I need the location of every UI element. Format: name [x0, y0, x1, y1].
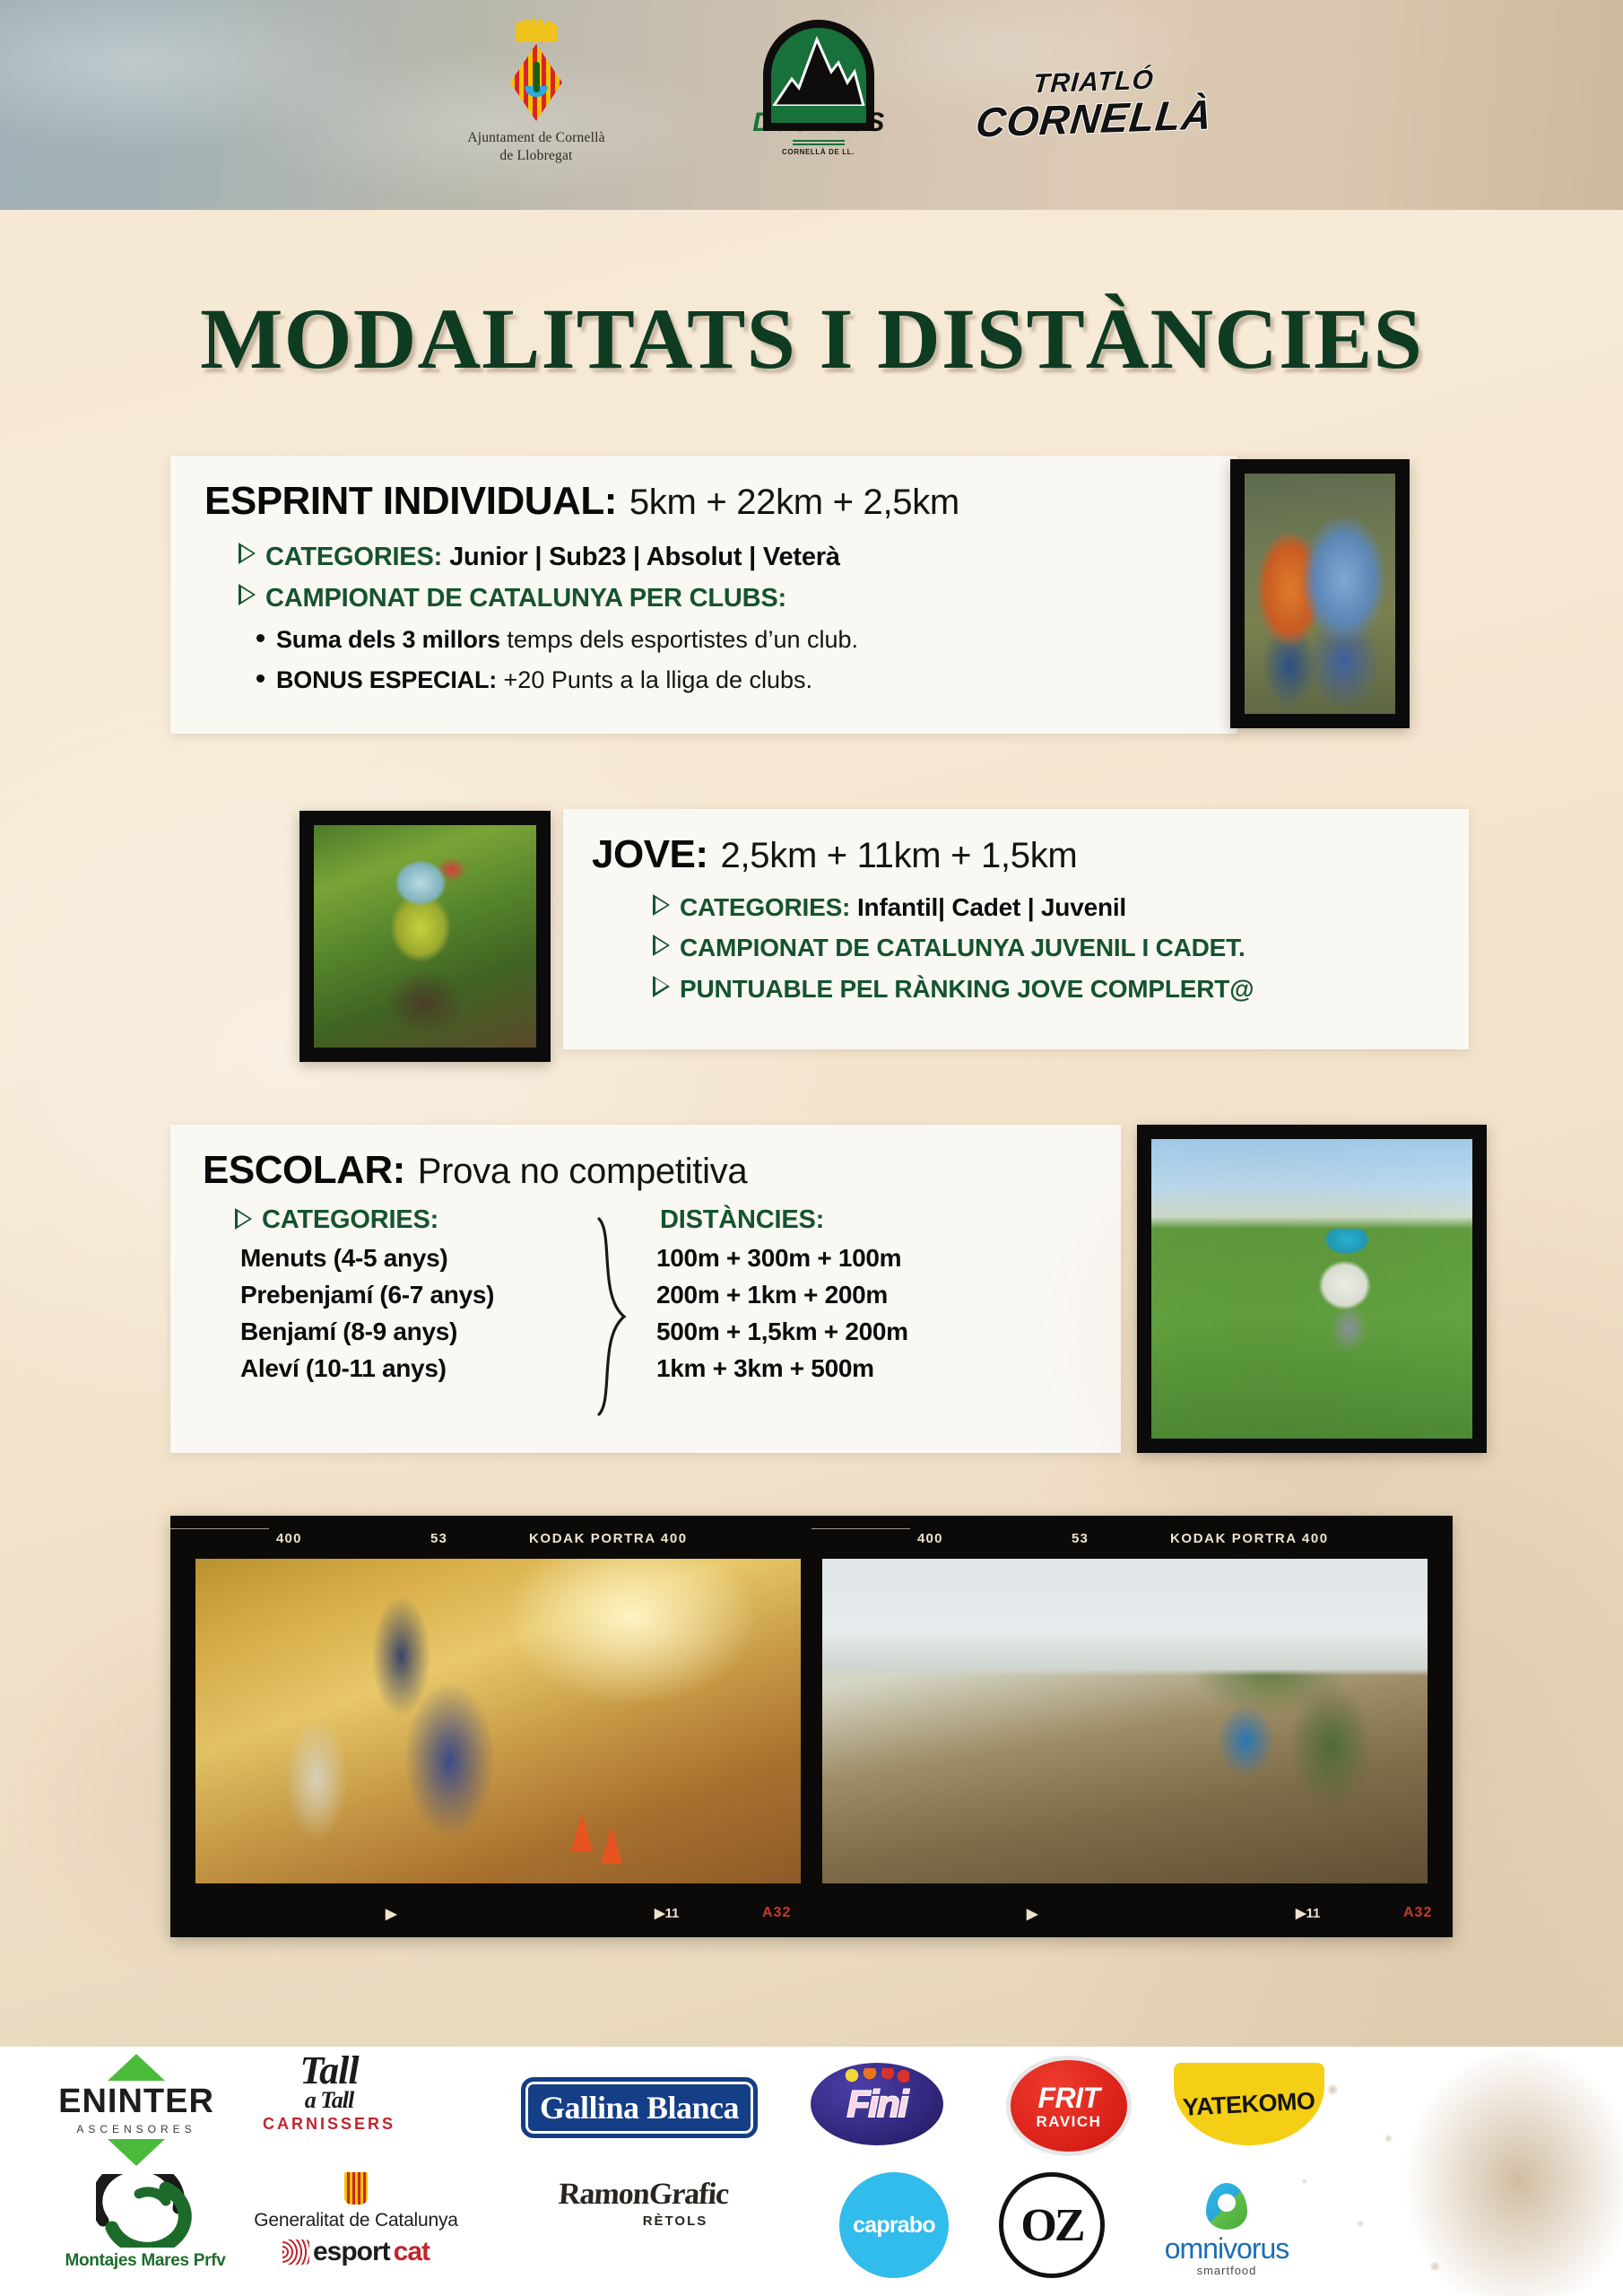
caprabo-oval: caprabo: [839, 2172, 949, 2278]
omnivorus-subtitle: smartfood: [1197, 2264, 1257, 2277]
tall-line2: a Tall: [305, 2090, 353, 2112]
film-code-right: A32: [1403, 1905, 1432, 1921]
jove-campionat-label: CAMPIONAT DE CATALUNYA JUVENIL I CADET.: [680, 932, 1245, 964]
jove-heading: JOVE: 2,5km + 11km + 1,5km: [592, 832, 1469, 877]
yatekomo-shield: YATEKOMO: [1174, 2063, 1324, 2145]
eninter-subtitle: ASCENSORES: [76, 2123, 195, 2135]
escolar-distances-header: DISTÀNCIES:: [660, 1205, 824, 1235]
frit-line2: RAVICH: [1037, 2113, 1102, 2131]
film-arrow-icon-right-1: ▶: [1027, 1905, 1039, 1923]
ajuntament-cornella-logo: Ajuntament de Cornellà de Llobregat: [440, 24, 633, 186]
gallina-plate: Gallina Blanca: [521, 2077, 758, 2138]
generalitat-name: Generalitat de Catalunya: [254, 2210, 458, 2231]
jove-categories-label: CATEGORIES:: [680, 893, 850, 921]
chevron-up-icon: [108, 2054, 165, 2081]
film-speed-right: 400: [917, 1531, 943, 1546]
escolar-distance-3: 500m + 1,5km + 200m: [656, 1318, 1121, 1346]
triangle-bullet-icon: [653, 976, 670, 997]
header-band: Ajuntament de Cornellà de Llobregat DUCR…: [0, 0, 1623, 210]
sponsor-fini: Fini: [805, 2063, 949, 2145]
mountain-peak-icon: [772, 32, 865, 106]
escolar-categories-header: CATEGORIES:: [262, 1205, 595, 1235]
esprint-bullet-1-rest: temps dels esportistes d’un club.: [500, 626, 858, 653]
esportcat-esport: esport: [313, 2237, 390, 2267]
filmstrip: 400 53 KODAK PORTRA 400 400 53 KODAK POR…: [170, 1516, 1453, 1937]
omnivorus-name: omnivorus: [1165, 2232, 1289, 2266]
esprint-heading: ESPRINT INDIVIDUAL: 5km + 22km + 2,5km: [204, 479, 1237, 524]
esportcat-swirl-icon: [282, 2239, 309, 2265]
oz-oval: OZ: [999, 2172, 1105, 2278]
filmstrip-bottom-edge: ▶ ▶11 A32 ▶ ▶11 A32: [170, 1900, 1453, 1930]
esprint-bullet-2-bold: BONUS ESPECIAL:: [276, 666, 497, 693]
jove-distances: 2,5km + 11km + 1,5km: [721, 836, 1078, 876]
jove-row-puntuable: PUNTUABLE PEL RÀNKING JOVE COMPLERT@: [592, 973, 1469, 1005]
escolar-distance-4: 1km + 3km + 500m: [656, 1354, 1121, 1383]
sponsor-gallina-blanca: Gallina Blanca: [509, 2077, 769, 2138]
escolar-distances: Prova no competitiva: [418, 1152, 748, 1192]
eninter-name: ENINTER: [58, 2083, 214, 2121]
photo-kid-image: [1151, 1139, 1472, 1439]
dot-bullet-icon: [256, 634, 265, 642]
page-title: MODALITATS I DISTÀNCIES: [0, 289, 1623, 388]
modality-card-escolar: ESCOLAR: Prova no competitiva CATEGORIES…: [170, 1125, 1121, 1453]
poster: Ajuntament de Cornellà de Llobregat DUCR…: [0, 0, 1623, 2296]
dot-bullet-icon: [256, 674, 265, 683]
esprint-bullet-1-bold: Suma dels 3 millors: [276, 626, 500, 653]
sponsor-montajes-mares: Montajes Mares Prfv: [47, 2174, 244, 2271]
sponsor-ramon-grafic: RamonGrafic RÈTOLS: [527, 2178, 760, 2229]
triangle-bullet-icon: [653, 894, 670, 916]
film-code-left: A32: [762, 1905, 791, 1921]
photo-mountain-biker: [299, 811, 551, 1062]
triangle-bullet-icon: [239, 543, 256, 564]
sponsor-tall-a-tall: Tall a Tall CARNISSERS: [226, 2052, 432, 2134]
escolar-category-4: Aleví (10-11 anys): [240, 1354, 594, 1383]
film-frame-cyclists: [822, 1559, 1428, 1883]
escolar-header-row: CATEGORIES: DISTÀNCIES:: [203, 1205, 1121, 1235]
tall-subtitle: CARNISSERS: [263, 2115, 395, 2134]
ajuntament-caption-line2: de Llobregat: [499, 148, 572, 163]
yatekomo-name: YATEKOMO: [1182, 2087, 1315, 2122]
sponsor-generalitat: Generalitat de Catalunya esport cat: [244, 2172, 468, 2267]
escolar-heading: ESCOLAR: Prova no competitiva: [203, 1148, 1121, 1193]
crown-icon: [516, 24, 557, 42]
esportcat-cat: cat: [394, 2237, 430, 2267]
esportcat-logo: esport cat: [282, 2237, 430, 2267]
photo-mountain-biker-image: [314, 825, 536, 1048]
esprint-bullet-2-rest: +20 Punts a la lliga de clubs.: [497, 666, 812, 693]
fini-dots-icon: [845, 2068, 909, 2083]
ramon-subtitle: RÈTOLS: [643, 2213, 708, 2229]
sponsor-omnivorus: omnivorus smartfood: [1128, 2183, 1325, 2277]
esprint-categories-label: CATEGORIES:: [265, 543, 442, 571]
frit-oval: FRIT RAVICH: [1006, 2056, 1132, 2156]
esprint-bullet-list: Suma dels 3 millors temps dels esportist…: [204, 623, 1237, 697]
esprint-campionat-label: CAMPIONAT DE CATALUNYA PER CLUBS:: [265, 581, 786, 615]
sponsor-yatekomo: YATEKOMO: [1166, 2063, 1332, 2145]
esprint-row-campionat: CAMPIONAT DE CATALUNYA PER CLUBS:: [204, 581, 1237, 615]
omnivorus-drop-icon: [1206, 2183, 1247, 2230]
tall-line1: Tall: [299, 2052, 358, 2090]
gallina-name: Gallina Blanca: [540, 2089, 739, 2126]
ramon-name: RamonGrafic: [558, 2178, 730, 2212]
jove-categories-value: Infantil| Cadet | Juvenil: [857, 893, 1126, 921]
generalitat-crest-icon: [344, 2172, 368, 2205]
escolar-name: ESCOLAR:: [203, 1148, 405, 1193]
filmstrip-half-right-bottom: ▶ ▶11 A32: [811, 1900, 1453, 1930]
film-arrow-icon-right-2: ▶11: [1296, 1905, 1320, 1921]
escolar-category-1: Menuts (4-5 anys): [240, 1244, 594, 1273]
filmstrip-half-left-top: 400 53 KODAK PORTRA 400: [170, 1525, 811, 1555]
esprint-bullet-2: BONUS ESPECIAL: +20 Punts a la lliga de …: [256, 664, 1237, 696]
modality-card-jove: JOVE: 2,5km + 11km + 1,5km CATEGORIES: I…: [563, 809, 1469, 1049]
film-arrow-icon-left-2: ▶11: [655, 1905, 679, 1921]
esprint-row-categories: CATEGORIES: Junior | Sub23 | Absolut | V…: [204, 540, 1237, 574]
jove-row-campionat: CAMPIONAT DE CATALUNYA JUVENIL I CADET.: [592, 932, 1469, 964]
sponsor-oz: OZ: [985, 2172, 1119, 2278]
esprint-distances: 5km + 22km + 2,5km: [629, 483, 959, 523]
ducross-subtitle: CORNELLÀ DE LL.: [782, 148, 855, 156]
sponsor-eninter: ENINTER ASCENSORES: [38, 2054, 235, 2166]
caprabo-name: caprabo: [853, 2213, 935, 2239]
fini-blob: Fini: [811, 2063, 943, 2145]
triangle-bullet-icon: [239, 584, 256, 605]
ducross-bars-icon: [793, 140, 845, 146]
curly-brace-icon: [594, 1217, 629, 1416]
sponsor-bar: ENINTER ASCENSORES Tall a Tall CARNISSER…: [0, 2047, 1623, 2296]
triatlo-cornella-logo: TRIATLÓ CORNELLÀ: [1002, 35, 1185, 176]
oz-name: OZ: [1020, 2199, 1082, 2252]
filmstrip-top-edge: 400 53 KODAK PORTRA 400 400 53 KODAK POR…: [170, 1525, 1453, 1555]
filmstrip-half-left-bottom: ▶ ▶11 A32: [170, 1900, 811, 1930]
escolar-distance-1: 100m + 300m + 100m: [656, 1244, 1121, 1273]
ajuntament-caption-line1: Ajuntament de Cornellà: [467, 130, 604, 145]
ducross-logo: DUCROSS CORNELLÀ DE LL.: [733, 20, 904, 190]
film-frame-left: 53: [430, 1531, 447, 1546]
ducross-mountain-icon: [763, 20, 874, 106]
jove-row-categories: CATEGORIES: Infantil| Cadet | Juvenil: [592, 891, 1469, 924]
esprint-name: ESPRINT INDIVIDUAL:: [204, 479, 617, 524]
escolar-category-2: Prebenjamí (6-7 anys): [240, 1281, 594, 1309]
coat-of-arms-icon: [510, 44, 562, 121]
escolar-distance-2: 200m + 1km + 200m: [656, 1281, 1121, 1309]
filmstrip-frames: [170, 1559, 1453, 1883]
escolar-table: Menuts (4-5 anys) 100m + 300m + 100m Pre…: [203, 1244, 1121, 1383]
modality-card-esprint: ESPRINT INDIVIDUAL: 5km + 22km + 2,5km C…: [170, 456, 1237, 734]
film-frame-right: 53: [1072, 1531, 1089, 1546]
triangle-bullet-icon: [653, 935, 670, 956]
photo-runners: [1230, 459, 1410, 728]
chevron-down-icon: [108, 2139, 165, 2166]
triangle-bullet-icon: [235, 1208, 252, 1230]
film-frame-runners: [195, 1559, 801, 1883]
jove-name: JOVE:: [592, 832, 708, 877]
sponsor-frit-ravich: FRIT RAVICH: [994, 2056, 1144, 2156]
film-speed-left: 400: [276, 1531, 302, 1546]
jove-puntuable-label: PUNTUABLE PEL RÀNKING JOVE COMPLERT@: [680, 973, 1254, 1005]
triatlo-line2: CORNELLÀ: [973, 90, 1214, 146]
esprint-categories-value: Junior | Sub23 | Absolut | Veterà: [449, 543, 840, 571]
fini-name: Fini: [847, 2083, 907, 2126]
header-logo-row: Ajuntament de Cornellà de Llobregat DUCR…: [0, 0, 1623, 210]
esprint-bullet-1: Suma dels 3 millors temps dels esportist…: [256, 623, 1237, 656]
film-name-left: KODAK PORTRA 400: [529, 1531, 688, 1546]
escolar-category-3: Benjamí (8-9 anys): [240, 1318, 594, 1346]
ajuntament-caption: Ajuntament de Cornellà de Llobregat: [467, 129, 604, 165]
frit-line1: FRIT: [1037, 2082, 1099, 2115]
film-name-right: KODAK PORTRA 400: [1170, 1531, 1329, 1546]
sponsor-caprabo: caprabo: [827, 2172, 961, 2278]
montajes-name: Montajes Mares Prfv: [65, 2251, 225, 2271]
filmstrip-half-right-top: 400 53 KODAK PORTRA 400: [811, 1525, 1453, 1555]
film-arrow-icon-left-1: ▶: [386, 1905, 398, 1923]
photo-runners-image: [1245, 474, 1395, 714]
photo-kid-balance-bike: [1137, 1125, 1487, 1453]
montajes-swirl-icon: [96, 2174, 195, 2248]
